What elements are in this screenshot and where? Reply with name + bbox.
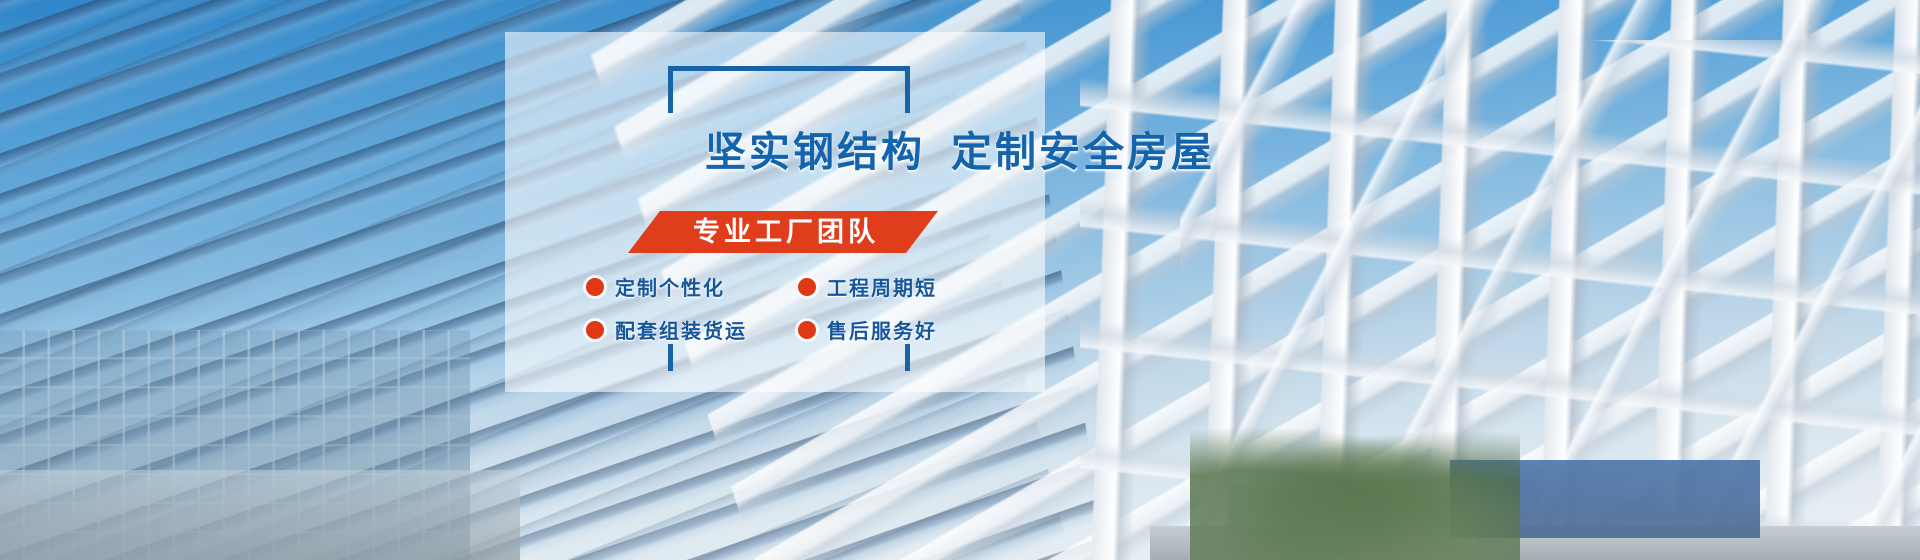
headline-part-1: 坚实钢结构 — [705, 128, 925, 176]
feature-label: 工程周期短 — [827, 272, 937, 301]
feature-item: 工程周期短 — [798, 272, 1006, 301]
frame-left-bottom-bar — [668, 344, 673, 371]
bullet-dot-icon — [798, 321, 816, 339]
tagline-banner: 专业工厂团队 — [628, 211, 938, 253]
bullet-dot-icon — [798, 278, 816, 296]
bullet-dot-icon — [586, 321, 604, 339]
feature-label: 配套组装货运 — [615, 315, 747, 344]
frame-left-top-bar — [668, 66, 673, 113]
feature-item: 售后服务好 — [798, 315, 1006, 344]
frame-right-bottom-bar — [905, 344, 910, 371]
hero-banner: 坚实钢结构定制安全房屋 专业工厂团队 定制个性化 工程周期短 配套组装货运 售后… — [0, 0, 1920, 560]
feature-label: 售后服务好 — [827, 315, 937, 344]
feature-item: 定制个性化 — [586, 272, 798, 301]
bullet-dot-icon — [586, 278, 604, 296]
headline: 坚实钢结构定制安全房屋 — [0, 118, 1920, 178]
feature-list: 定制个性化 工程周期短 配套组装货运 售后服务好 — [586, 272, 1006, 344]
tagline-text: 专业工厂团队 — [687, 219, 879, 246]
headline-part-2: 定制安全房屋 — [951, 128, 1215, 176]
feature-label: 定制个性化 — [615, 272, 725, 301]
frame-top-bar — [668, 66, 910, 71]
feature-item: 配套组装货运 — [586, 315, 798, 344]
frame-right-top-bar — [905, 66, 910, 113]
